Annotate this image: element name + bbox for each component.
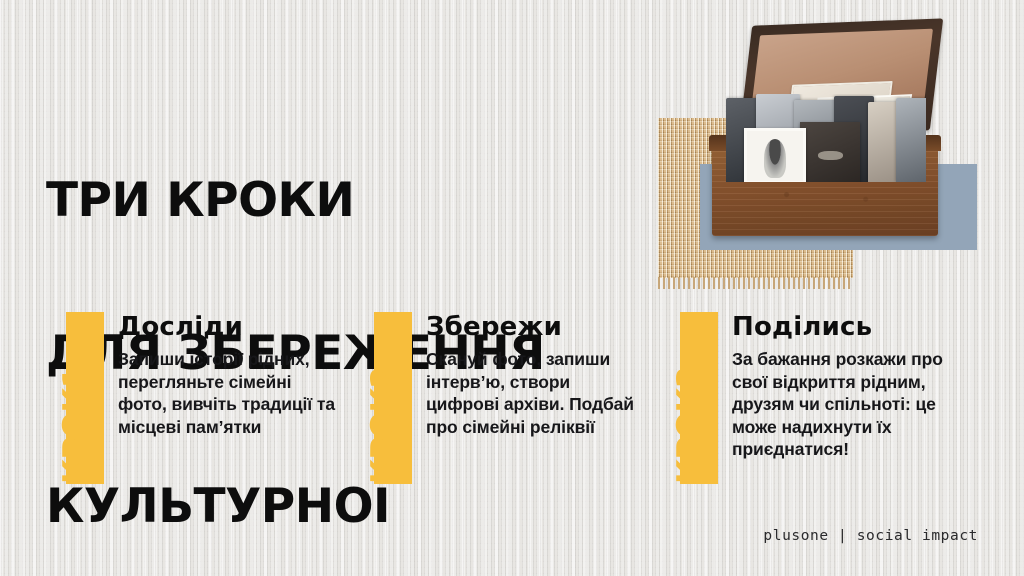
step-badge-1: КРОК1 <box>46 312 104 484</box>
vintage-photo-box-image <box>698 22 958 246</box>
slide-canvas: ТРИ КРОКИ ДЛЯ ЗБЕРЕЖЕННЯ КУЛЬТУРНОЇ СПАД… <box>0 0 1024 576</box>
photo-box-collage <box>648 18 1024 290</box>
step-badge-label: КРОК1 <box>46 312 104 484</box>
step-badge-3: КРОК3 <box>660 312 718 484</box>
step-badge-2: КРОК2 <box>354 312 412 484</box>
footer-brand: plusone | social impact <box>763 528 978 544</box>
photo-item-dark <box>800 122 860 182</box>
step-heading: Поділись <box>732 312 980 342</box>
step-description: За бажання розкажи про свої відкриття рі… <box>732 348 980 461</box>
step-content-3: Поділись За бажання розкажи про свої від… <box>732 312 980 461</box>
step-heading: Збережи <box>426 312 646 342</box>
step-content-2: Збережи Скануй фото, запиши інтерв’ю, ст… <box>426 312 646 438</box>
step-badge-label: КРОК2 <box>354 312 412 484</box>
stacked-photographs <box>726 94 926 182</box>
step-content-1: Досліди Запиши історії рідних, переглянь… <box>118 312 338 438</box>
step-description: Скануй фото, запиши інтерв’ю, створи циф… <box>426 348 646 438</box>
title-line-3: КУЛЬТУРНОЇ <box>46 481 545 532</box>
step-description: Запиши історії рідних, перегляньте сімей… <box>118 348 338 438</box>
step-badge-label: КРОК3 <box>660 312 718 484</box>
title-line-1: ТРИ КРОКИ <box>46 175 545 226</box>
step-heading: Досліди <box>118 312 338 342</box>
photo-item <box>896 98 926 182</box>
portrait-photo <box>744 128 806 182</box>
